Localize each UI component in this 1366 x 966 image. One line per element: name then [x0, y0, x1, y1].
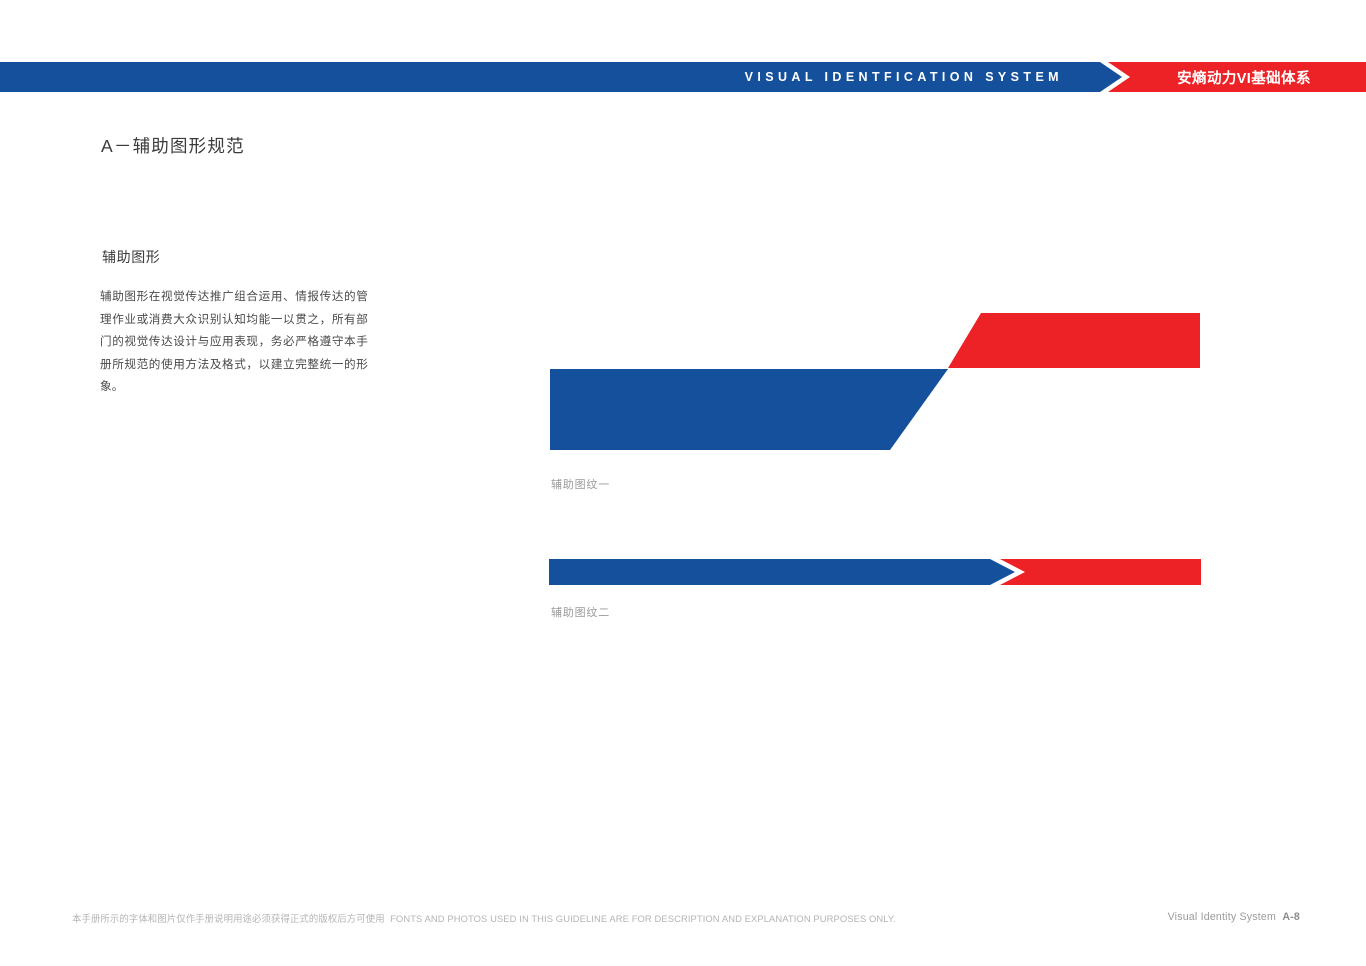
auxiliary-graphic-two-shapes [548, 558, 1202, 586]
header-banner-shapes [0, 62, 1366, 92]
graphic-one-red-parallelogram [948, 313, 1200, 368]
auxiliary-graphic-two-caption: 辅助图纹二 [551, 604, 610, 620]
footer-page-number: A-8 [1282, 911, 1300, 923]
graphic-two-red-bar [1000, 559, 1201, 585]
page-header-bar [0, 62, 1366, 92]
footer-disclaimer: 本手册所示的字体和图片仅作手册说明用途必须获得正式的版权后方可使用 FONTS … [72, 911, 896, 925]
body-description-text: 辅助图形在视觉传达推广组合运用、情报传达的管理作业或消费大众识别认知均能一以贯之… [100, 286, 368, 399]
header-blue-banner [0, 62, 1122, 92]
footer-document-label: Visual Identity System [1168, 911, 1276, 923]
page-title: A－辅助图形规范 [101, 133, 245, 158]
auxiliary-graphic-two [548, 558, 1202, 586]
auxiliary-graphic-one [549, 313, 1201, 453]
footer-disclaimer-chinese: 本手册所示的字体和图片仅作手册说明用途必须获得正式的版权后方可使用 [72, 913, 385, 924]
header-red-banner [1108, 62, 1366, 92]
auxiliary-graphic-one-shapes [549, 313, 1201, 453]
footer-page-marker: Visual Identity System A-8 [1168, 911, 1300, 923]
footer-disclaimer-english: FONTS AND PHOTOS USED IN THIS GUIDELINE … [390, 913, 896, 924]
subsection-heading: 辅助图形 [102, 247, 160, 267]
auxiliary-graphic-one-caption: 辅助图纹一 [551, 476, 610, 492]
graphic-one-blue-parallelogram [550, 369, 948, 450]
graphic-two-blue-bar [549, 559, 1015, 585]
